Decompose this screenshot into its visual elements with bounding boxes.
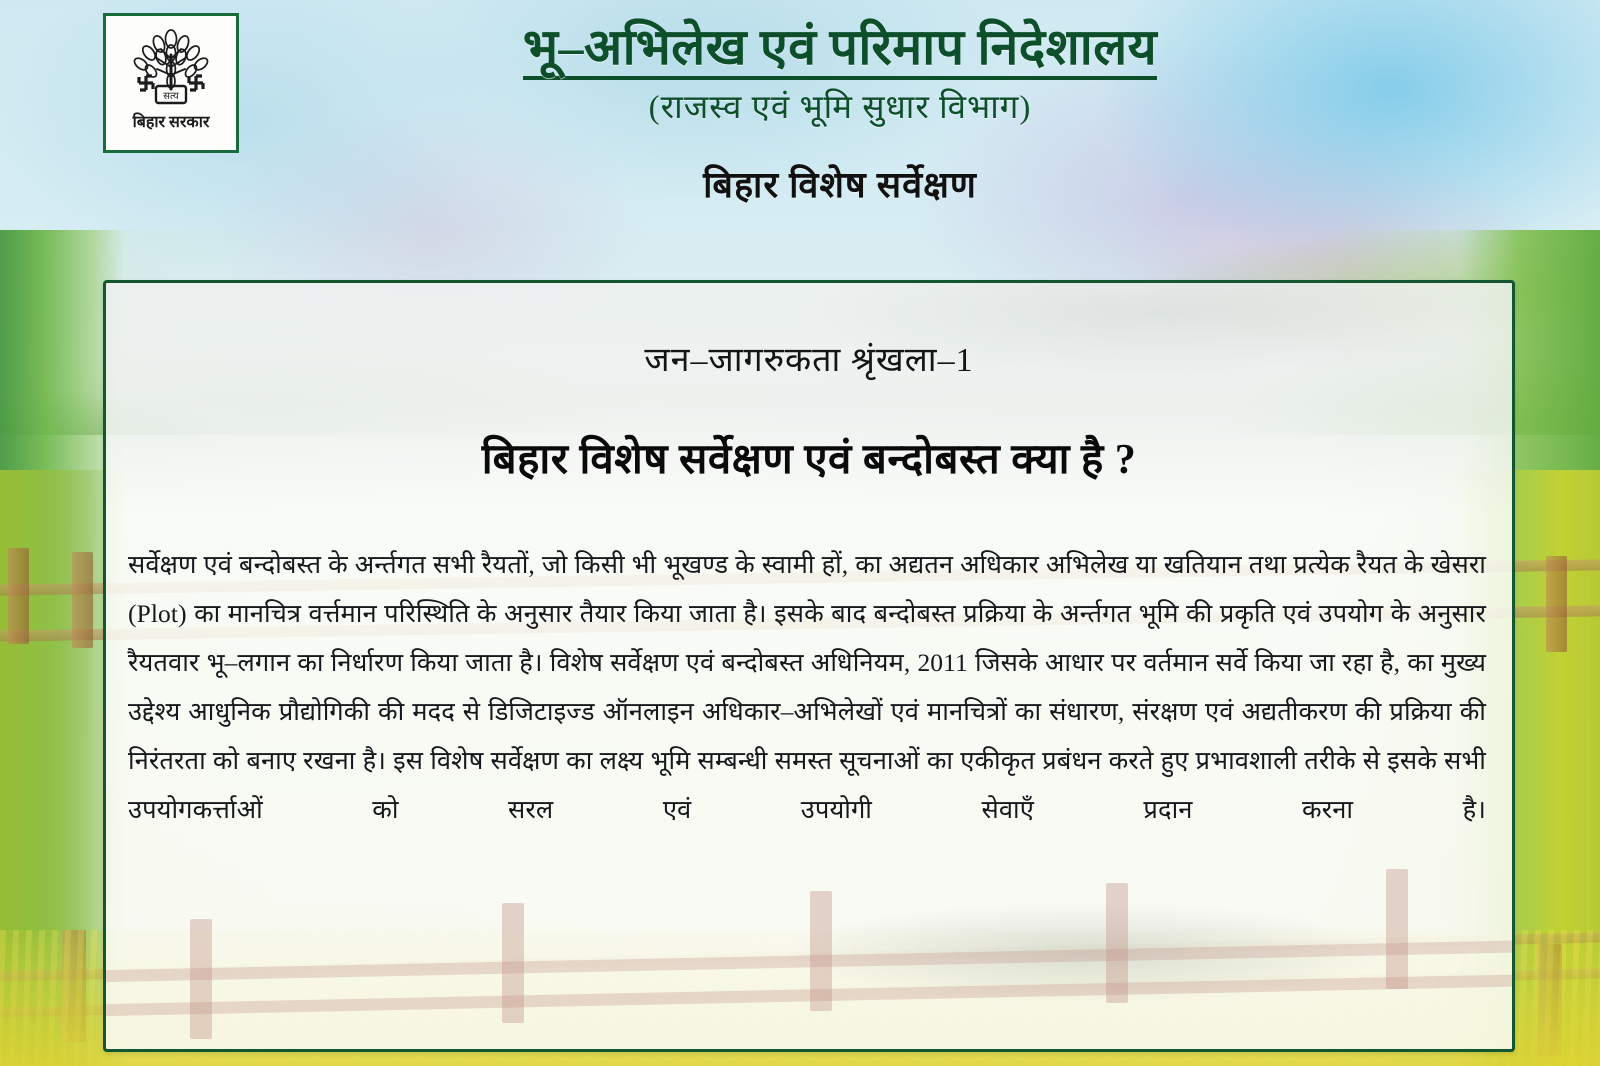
body-paragraph: सर्वेक्षण एवं बन्दोबस्त के अर्न्तगत सभी …: [128, 540, 1486, 883]
sub-title: (राजस्व एवं भूमि सुधार विभाग): [250, 89, 1430, 129]
poster-header: सत्य बिहार सरकार भू–अभिलेख एवं परिमाप नि…: [0, 0, 1600, 272]
svg-text:सत्य: सत्य: [163, 91, 179, 102]
emblem-caption: बिहार सरकार: [132, 112, 211, 131]
series-label: जन–जागरुकता श्रृंखला–1: [106, 335, 1512, 381]
survey-title: बिहार विशेष सर्वेक्षण: [250, 159, 1430, 208]
poster-root: सत्य बिहार सरकार भू–अभिलेख एवं परिमाप नि…: [0, 0, 1600, 1066]
content-card: जन–जागरुकता श्रृंखला–1 बिहार विशेष सर्वे…: [103, 280, 1515, 1052]
title-block: भू–अभिलेख एवं परिमाप निदेशालय (राजस्व एव…: [250, 20, 1430, 208]
question-heading: बिहार विशेष सर्वेक्षण एवं बन्दोबस्त क्या…: [106, 429, 1512, 486]
main-title: भू–अभिलेख एवं परिमाप निदेशालय: [523, 20, 1157, 80]
bihar-government-emblem: सत्य बिहार सरकार: [103, 13, 239, 153]
